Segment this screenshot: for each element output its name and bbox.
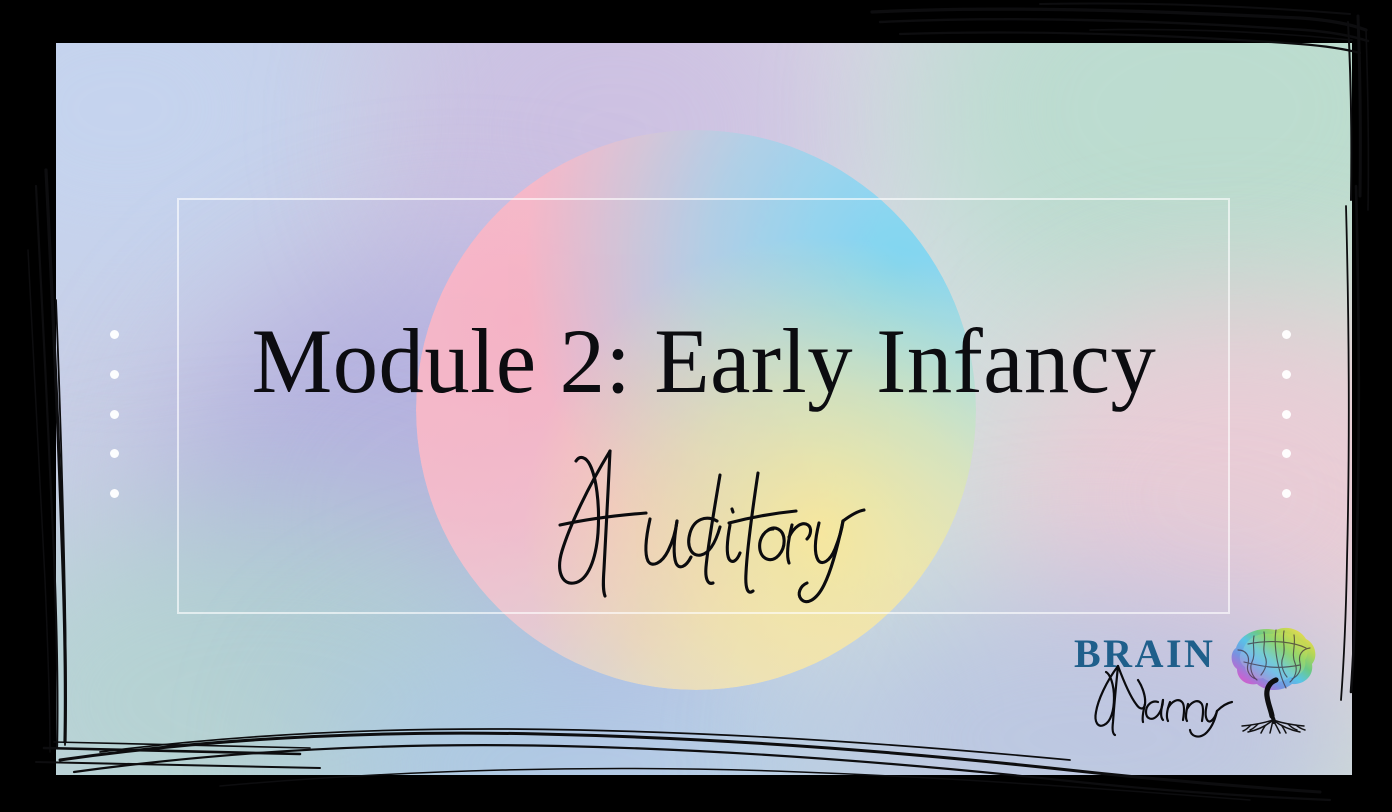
slide-canvas: Module 2: Early Infancy (0, 0, 1392, 812)
dot (110, 330, 119, 339)
dot (1282, 489, 1291, 498)
dot (1282, 330, 1291, 339)
dot (110, 449, 119, 458)
dot (1282, 449, 1291, 458)
slide-artboard: Module 2: Early Infancy (56, 43, 1352, 775)
dot (110, 489, 119, 498)
logo-word-nanny (1088, 660, 1238, 743)
dot (110, 370, 119, 379)
dot (1282, 410, 1291, 419)
brain-tree-icon (1224, 622, 1324, 739)
dot (110, 410, 119, 419)
dot-column-left (109, 330, 119, 498)
gradient-circle-fill (416, 130, 976, 690)
dot-column-right (1281, 330, 1291, 498)
brand-logo[interactable]: BRAIN (1066, 630, 1336, 745)
nanny-script-icon (1088, 660, 1238, 738)
gradient-circle (416, 130, 976, 690)
bg-blob-mint (911, 43, 1352, 336)
bg-blob-pale-blue (56, 43, 341, 292)
dot (1282, 370, 1291, 379)
